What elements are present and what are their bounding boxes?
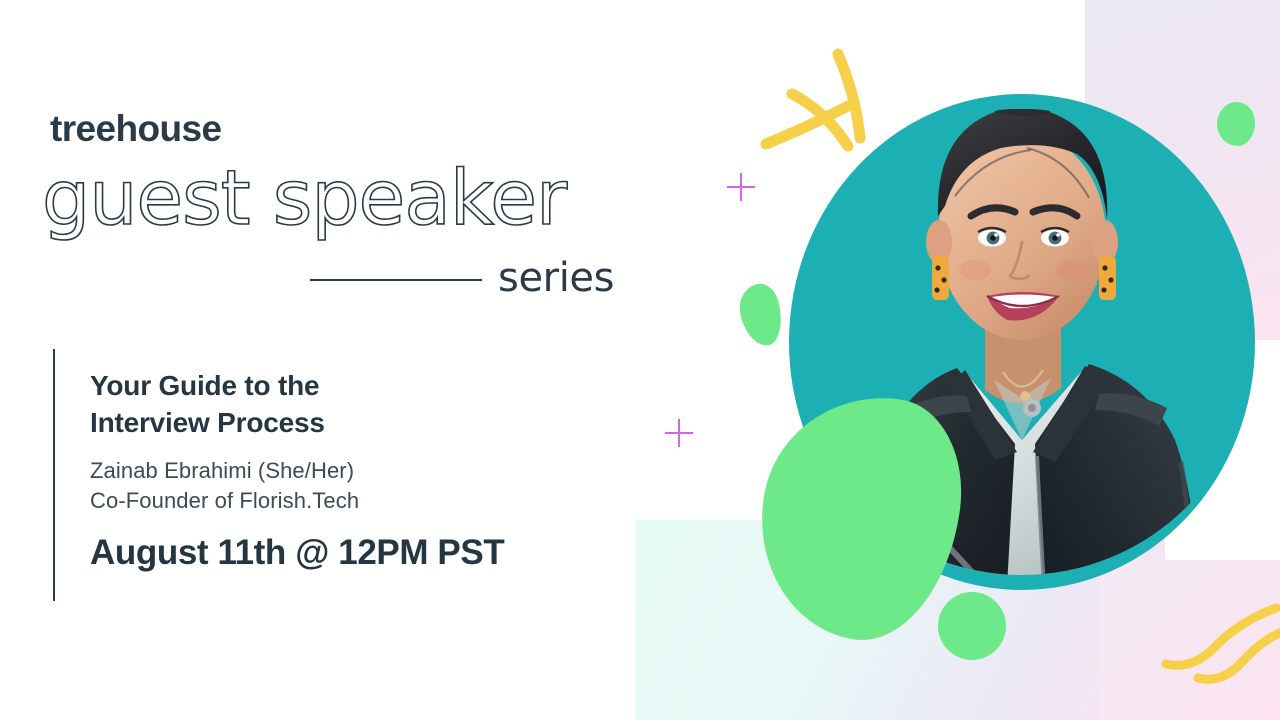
yellow-squiggles-icon	[1158, 592, 1280, 712]
vertical-accent-bar	[53, 349, 55, 601]
green-blob-small-shape	[735, 281, 787, 350]
plus-mark-icon-lower	[665, 419, 693, 447]
session-info-block: Your Guide to the Interview Process Zain…	[90, 368, 630, 573]
series-row: series	[310, 255, 630, 303]
green-circle-top-shape	[1217, 102, 1255, 146]
text-column: treehouse guest speaker series Your Guid…	[0, 0, 660, 720]
series-divider-rule	[310, 279, 482, 281]
event-datetime: August 11th @ 12PM PST	[90, 533, 630, 573]
brand-wordmark: treehouse	[50, 108, 221, 150]
series-label: series	[498, 255, 614, 301]
green-circle-bottom-shape	[938, 592, 1006, 660]
headline-outline-text: guest speaker	[42, 160, 566, 236]
session-title-line-2: Interview Process	[90, 405, 630, 442]
yellow-rays-icon	[752, 38, 892, 178]
plus-mark-icon-upper	[727, 173, 755, 201]
speaker-role: Co-Founder of Florish.Tech	[90, 486, 630, 516]
speaker-name: Zainab Ebrahimi (She/Her)	[90, 456, 630, 486]
slide-canvas: treehouse guest speaker series Your Guid…	[0, 0, 1280, 720]
session-title-line-1: Your Guide to the	[90, 368, 630, 405]
